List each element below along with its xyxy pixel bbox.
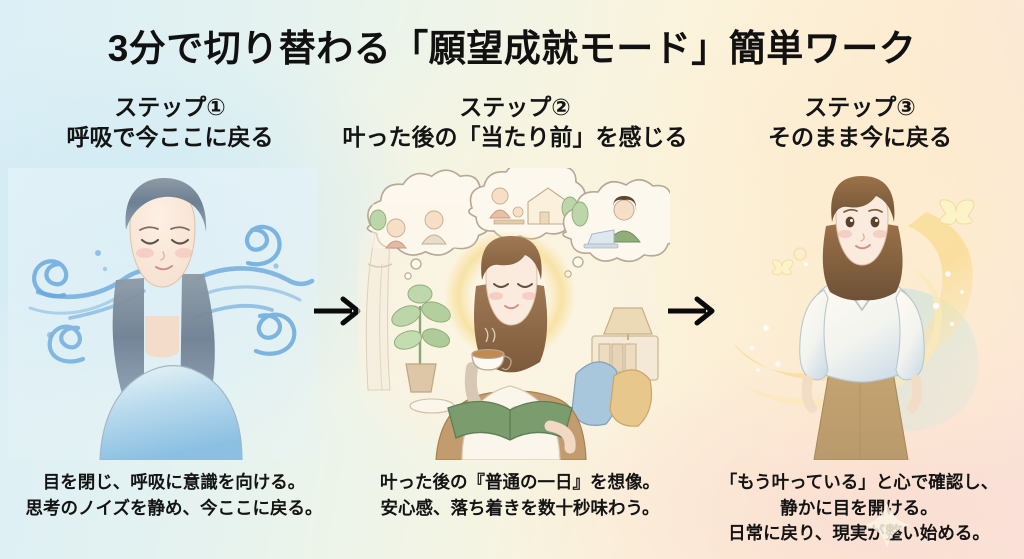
butterfly-large-icon	[940, 200, 974, 225]
blush-left	[838, 230, 852, 238]
wind-dot	[273, 263, 278, 268]
plate	[410, 399, 454, 413]
woman-imagining-illustration	[352, 168, 670, 460]
step-number-label-1: ステップ①	[10, 92, 330, 122]
caption-line: 日常に戻り、現実が整い始める。	[694, 521, 1024, 547]
infographic-canvas: 3分で切り替わる「願望成就モード」簡単ワーク ステップ① 呼吸で今ここに戻る ス…	[0, 0, 1024, 559]
laptop-base	[584, 244, 618, 248]
step-illustration-3	[700, 168, 1020, 460]
woman-in-golden-light-illustration	[700, 168, 1020, 460]
caption-line: 安心感、落ち着きを数十秒味わう。	[352, 496, 688, 522]
step-illustration-2	[352, 168, 670, 460]
sleeve-left	[800, 290, 828, 380]
light-ring	[794, 248, 806, 260]
wind-dot	[47, 332, 53, 338]
table	[494, 220, 524, 224]
step-number-label-3: ステップ③	[700, 92, 1020, 122]
step-caption-1: 目を閉じ、呼吸に意識を向ける。 思考のノイズを静め、今ここに戻る。	[6, 470, 342, 521]
eye-right	[871, 217, 880, 228]
step-number-label-2: ステップ②	[340, 92, 690, 122]
caption-line: 「もう叶っている」と心で確認し、	[694, 470, 1024, 496]
page-title: 3分で切り替わる「願望成就モード」簡単ワーク	[0, 18, 1024, 72]
step-header-2: ステップ② 叶った後の「当たり前」を感じる	[340, 92, 690, 153]
caption-line: 思考のノイズを静め、今ここに戻る。	[6, 496, 342, 522]
person-head	[387, 219, 405, 237]
blush-left	[136, 248, 154, 258]
blush-left	[489, 292, 503, 300]
person-head	[492, 188, 508, 204]
eye-highlight-right	[875, 219, 878, 222]
neck	[145, 316, 179, 358]
step-illustration-1	[8, 168, 318, 460]
eye-highlight-left	[850, 219, 853, 222]
woman-breathing-illustration	[8, 168, 318, 460]
step-caption-3: 「もう叶っている」と心で確認し、 静かに目を開ける。 日常に戻り、現実が整い始め…	[694, 470, 1024, 547]
cushion-orange	[610, 370, 652, 426]
person-head	[614, 200, 634, 220]
step-subtitle-1: 呼吸で今ここに戻る	[10, 122, 330, 152]
house-door	[540, 212, 549, 224]
step-caption-2: 叶った後の『普通の一日』を想像。 安心感、落ち着きを数十秒味わう。	[352, 470, 688, 521]
step-subtitle-3: そのまま今に戻る	[700, 122, 1020, 152]
caption-line: 目を閉じ、呼吸に意識を向ける。	[6, 470, 342, 496]
hand-right	[912, 380, 917, 408]
step-header-3: ステップ③ そのまま今に戻る	[700, 92, 1020, 153]
blush-right	[522, 292, 536, 300]
caption-line: 静かに目を開ける。	[694, 496, 1024, 522]
wind-dot	[95, 250, 101, 256]
child-head	[513, 207, 523, 217]
caption-line: 叶った後の『普通の一日』を想像。	[352, 470, 688, 496]
bubble-plant	[572, 202, 588, 226]
blush-right	[873, 230, 887, 238]
blush-right	[175, 248, 193, 258]
eye-left	[846, 217, 855, 228]
hand-left	[807, 380, 812, 408]
wind-dot	[103, 267, 107, 271]
bubble-plant	[370, 210, 386, 230]
step-header-1: ステップ① 呼吸で今ここに戻る	[10, 92, 330, 153]
butterfly-small-icon	[772, 260, 792, 275]
step-subtitle-2: 叶った後の「当たり前」を感じる	[340, 122, 690, 152]
person-head	[425, 211, 443, 229]
